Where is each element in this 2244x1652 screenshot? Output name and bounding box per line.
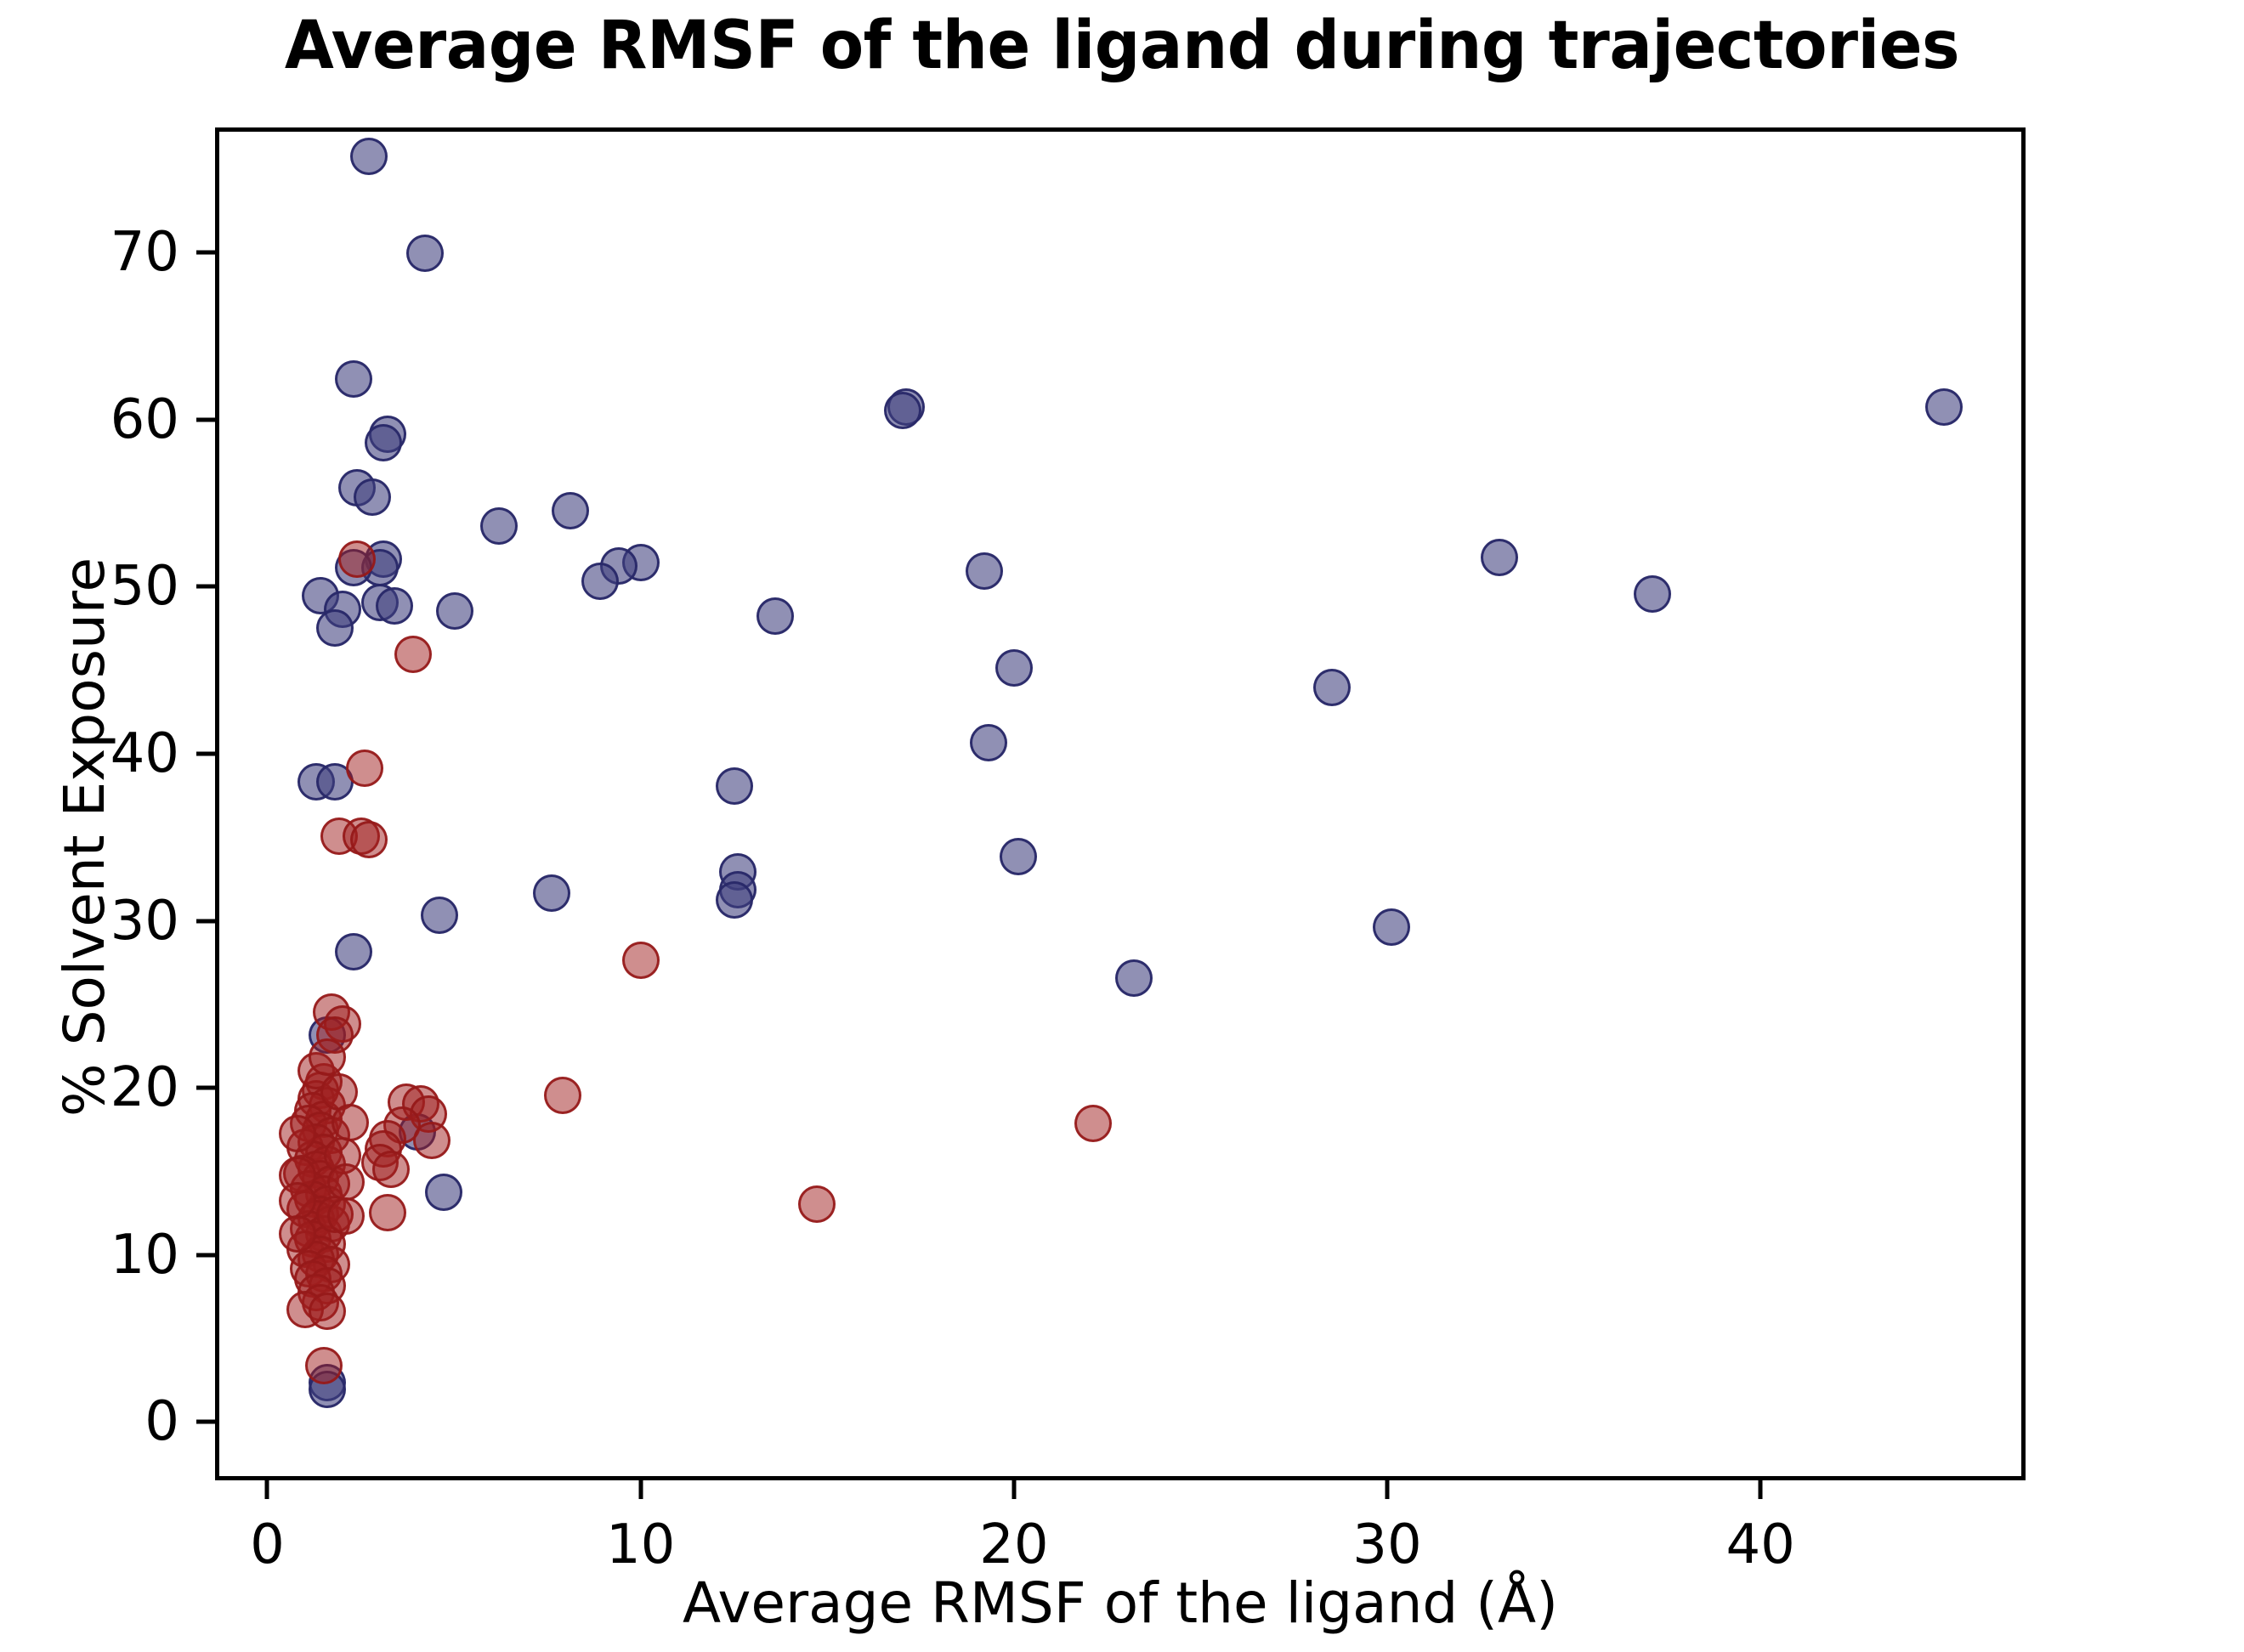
- scatter-point: [354, 478, 391, 516]
- y-axis-label: % Solvent Exposure: [52, 157, 118, 1517]
- y-tick-mark: [196, 1086, 215, 1090]
- scatter-point: [406, 235, 444, 272]
- scatter-point: [1925, 388, 1963, 426]
- scatter-point: [622, 942, 660, 979]
- y-tick-mark: [196, 1420, 215, 1424]
- x-tick-label: 10: [606, 1518, 675, 1572]
- x-axis-label: Average RMSF of the ligand (Å): [215, 1570, 2026, 1637]
- scatter-point: [279, 1115, 316, 1152]
- scatter-point: [350, 138, 388, 175]
- plot-area: [215, 127, 2026, 1480]
- scatter-point: [394, 636, 432, 673]
- y-tick-mark: [196, 752, 215, 756]
- scatter-point: [995, 649, 1033, 687]
- scatter-point: [1373, 908, 1410, 946]
- y-tick-mark: [196, 585, 215, 589]
- scatter-point: [279, 1182, 316, 1219]
- scatter-point: [372, 1151, 410, 1188]
- y-tick-mark: [196, 251, 215, 255]
- scatter-point: [305, 1347, 343, 1384]
- x-tick-mark: [1759, 1480, 1763, 1499]
- scatter-point: [309, 1038, 346, 1076]
- scatter-point: [716, 881, 753, 919]
- x-tick-label: 0: [250, 1518, 285, 1572]
- scatter-point: [966, 552, 1003, 590]
- scatter-point: [346, 750, 383, 787]
- scatter-point: [327, 1197, 365, 1235]
- chart-title: Average RMSF of the ligand during trajec…: [45, 7, 2199, 85]
- scatter-point: [365, 424, 402, 461]
- scatter-point: [1481, 539, 1518, 576]
- scatter-point: [350, 821, 388, 858]
- scatter-point: [1115, 959, 1153, 997]
- scatter-point: [798, 1185, 836, 1223]
- scatter-point: [716, 767, 753, 805]
- y-tick-mark: [196, 1253, 215, 1257]
- x-tick-mark: [638, 1480, 643, 1499]
- scatter-point: [581, 563, 619, 600]
- scatter-point: [756, 597, 794, 635]
- scatter-point: [413, 1122, 450, 1159]
- scatter-point: [552, 492, 589, 529]
- scatter-points-layer: [219, 132, 2021, 1476]
- x-tick-label: 30: [1352, 1518, 1421, 1572]
- scatter-point: [1634, 575, 1671, 613]
- scatter-point: [1313, 669, 1351, 706]
- scatter-point: [327, 1163, 365, 1201]
- x-tick-mark: [1011, 1480, 1016, 1499]
- x-tick-mark: [265, 1480, 269, 1499]
- scatter-point: [316, 609, 354, 647]
- scatter-point: [335, 933, 372, 970]
- scatter-point: [970, 724, 1007, 761]
- scatter-point: [480, 507, 518, 545]
- scatter-point: [436, 592, 473, 630]
- x-tick-label: 40: [1725, 1518, 1794, 1572]
- scatter-point: [376, 587, 413, 625]
- scatter-point: [331, 1104, 369, 1141]
- scatter-point: [425, 1174, 462, 1211]
- figure-root: Average RMSF of the ligand during trajec…: [0, 0, 2244, 1652]
- scatter-point: [279, 1215, 316, 1253]
- x-tick-mark: [1385, 1480, 1390, 1499]
- scatter-point: [309, 1293, 346, 1330]
- scatter-point: [544, 1077, 581, 1114]
- scatter-point: [335, 360, 372, 398]
- scatter-point: [1000, 838, 1037, 875]
- y-tick-mark: [196, 417, 215, 421]
- x-tick-label: 20: [979, 1518, 1048, 1572]
- scatter-point: [369, 1194, 406, 1231]
- y-tick-mark: [196, 919, 215, 923]
- scatter-point: [1074, 1105, 1112, 1142]
- scatter-point: [884, 392, 921, 429]
- scatter-point: [338, 540, 376, 578]
- scatter-point: [421, 897, 458, 934]
- scatter-point: [533, 874, 570, 912]
